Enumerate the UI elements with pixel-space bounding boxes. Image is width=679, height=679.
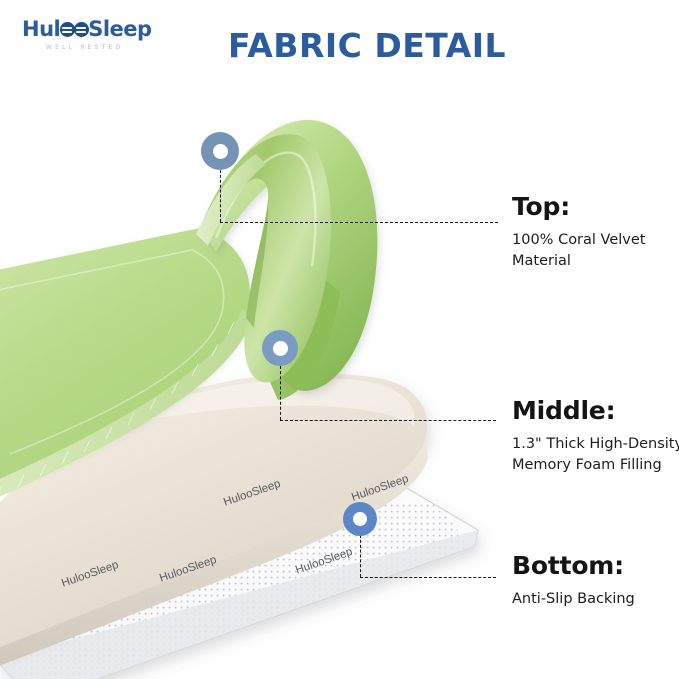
callout-middle-body: 1.3" Thick High-Density Memory Foam Fill… [512,434,679,476]
callout-marker-bottom[interactable] [343,502,377,536]
brand-name-suffix: Sleep [88,18,151,40]
brand-logo: Hul Sleep WELL RESTED [22,18,172,60]
sleepy-eye-icon [74,22,89,37]
marker-center [353,512,367,526]
fabric-detail-infographic: Hul Sleep WELL RESTED FABRIC DETAIL [0,0,679,679]
callout-bottom-body: Anti-Slip Backing [512,589,679,610]
callout-top: Top: 100% Coral Velvet Material [512,192,679,272]
callout-marker-middle[interactable] [262,330,298,366]
callout-marker-top[interactable] [201,132,239,170]
brand-wordmark: Hul Sleep [22,18,172,40]
brand-tagline: WELL RESTED [46,44,172,51]
marker-center [213,144,228,159]
callout-bottom-heading: Bottom: [512,551,679,581]
callout-bottom: Bottom: Anti-Slip Backing [512,551,679,610]
callout-middle-heading: Middle: [512,396,679,426]
callout-middle: Middle: 1.3" Thick High-Density Memory F… [512,396,679,476]
marker-center [273,341,288,356]
callout-top-heading: Top: [512,192,679,222]
sleepy-eye-icon [60,22,75,37]
product-layers-illustration [0,60,490,660]
callout-top-body: 100% Coral Velvet Material [512,230,679,272]
brand-name-prefix: Hul [22,18,60,40]
